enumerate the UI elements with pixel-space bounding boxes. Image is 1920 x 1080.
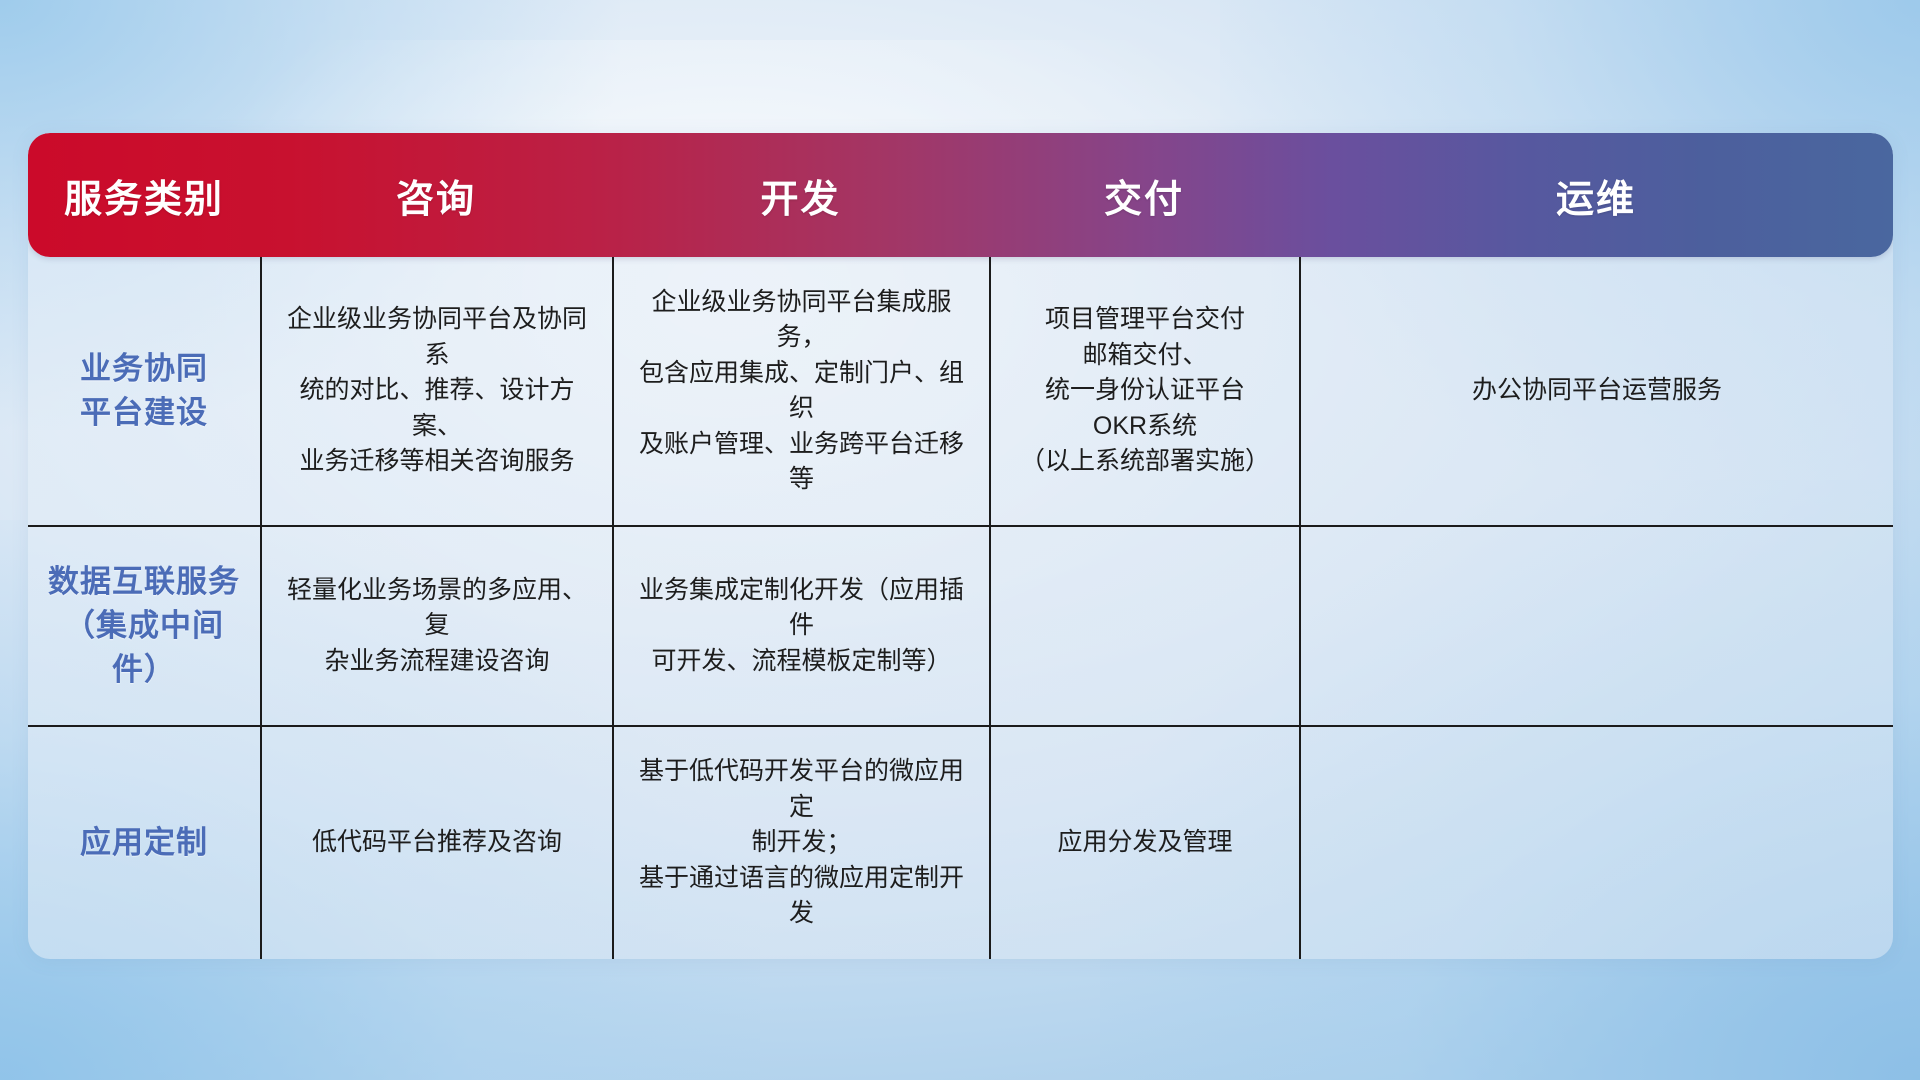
cell-operations [1299,527,1893,725]
cell-delivery [989,527,1299,725]
cell-operations: 办公协同平台运营服务 [1299,257,1893,525]
cell-development: 企业级业务协同平台集成服务， 包含应用集成、定制门户、组织 及账户管理、业务跨平… [612,257,989,525]
cell-delivery: 项目管理平台交付 邮箱交付、 统一身份认证平台 OKR系统 （以上系统部署实施） [989,257,1299,525]
cell-consulting: 低代码平台推荐及咨询 [260,727,612,959]
row-category-label: 数据互联服务 （集成中间件） [28,527,260,725]
row-category-label: 业务协同 平台建设 [28,257,260,525]
table-row: 应用定制 低代码平台推荐及咨询 基于低代码开发平台的微应用定 制开发； 基于通过… [28,725,1893,959]
table-row: 数据互联服务 （集成中间件） 轻量化业务场景的多应用、复 杂业务流程建设咨询 业… [28,525,1893,725]
column-header-operations: 运维 [1299,168,1893,223]
column-header-consulting: 咨询 [260,168,612,223]
table-header-row: 服务类别 咨询 开发 交付 运维 [28,133,1893,257]
column-header-delivery: 交付 [989,168,1299,223]
table-body: 业务协同 平台建设 企业级业务协同平台及协同系 统的对比、推荐、设计方案、 业务… [28,257,1893,959]
column-header-category: 服务类别 [28,168,260,223]
column-header-development: 开发 [612,168,989,223]
cell-consulting: 轻量化业务场景的多应用、复 杂业务流程建设咨询 [260,527,612,725]
cell-consulting: 企业级业务协同平台及协同系 统的对比、推荐、设计方案、 业务迁移等相关咨询服务 [260,257,612,525]
row-category-label: 应用定制 [28,727,260,959]
cell-development: 基于低代码开发平台的微应用定 制开发； 基于通过语言的微应用定制开发 [612,727,989,959]
cell-operations [1299,727,1893,959]
table-row: 业务协同 平台建设 企业级业务协同平台及协同系 统的对比、推荐、设计方案、 业务… [28,257,1893,525]
cell-delivery: 应用分发及管理 [989,727,1299,959]
service-matrix-table: 服务类别 咨询 开发 交付 运维 业务协同 平台建设 企业级业务协同平台及协同系… [28,133,1893,959]
cell-development: 业务集成定制化开发（应用插件 可开发、流程模板定制等） [612,527,989,725]
